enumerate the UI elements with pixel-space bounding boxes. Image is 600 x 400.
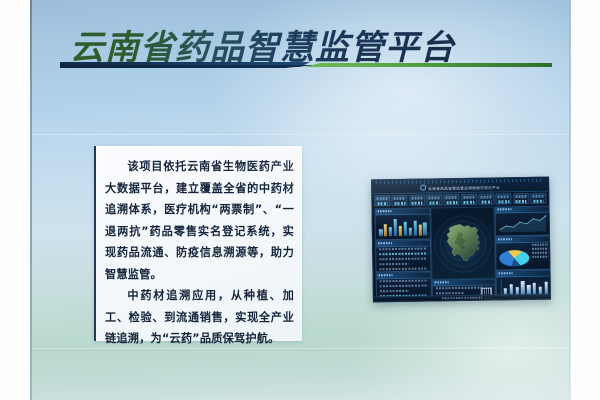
kpi-value: [446, 201, 457, 205]
kpi-card[interactable]: [461, 194, 477, 205]
panel-monthly-trend[interactable]: [494, 206, 549, 237]
panel-header: [496, 207, 550, 213]
exhibition-poster-board: 云南省药品智慧监管平台 该项目依托云南省生物医药产业大数据平台，建立覆盖全省的中…: [32, 0, 570, 400]
legend-item: [532, 252, 548, 254]
list-item: [380, 284, 428, 287]
screenshot-root: 云南省药品智慧监管平台 该项目依托云南省生物医药产业大数据平台，建立覆盖全省的中…: [0, 0, 600, 400]
list-item: [379, 257, 427, 260]
description-paragraph-1: 该项目依托云南省生物医药产业大数据平台，建立覆盖全省的中药材追溯体系，医疗机构“…: [105, 156, 294, 285]
line-chart: [499, 214, 547, 233]
title-divider: [60, 60, 530, 69]
kpi-card[interactable]: [513, 193, 529, 204]
kpi-card[interactable]: [478, 193, 494, 204]
list-item: [436, 287, 483, 290]
map-panel[interactable]: [430, 206, 495, 279]
pie-chart-disc: [499, 250, 529, 266]
kpi-card[interactable]: [496, 193, 512, 204]
kpi-label: [446, 196, 458, 199]
kpi-value: [498, 200, 509, 204]
kpi-card[interactable]: [392, 195, 408, 206]
dashboard-monitor: 云南省药品智慧监管追溯数据可视化平台: [371, 177, 551, 303]
panel-header: [376, 208, 430, 214]
kpi-card[interactable]: [426, 194, 442, 205]
kpi-label: [411, 197, 423, 200]
kpi-card-row: [374, 193, 546, 207]
kpi-value: [464, 200, 475, 204]
kpi-card[interactable]: [530, 193, 546, 204]
list-item: [379, 263, 408, 266]
kpi-value: [429, 201, 440, 205]
panel-header: [496, 237, 550, 243]
kpi-label: [498, 195, 510, 198]
kpi-card[interactable]: [409, 195, 425, 206]
kpi-card[interactable]: [374, 195, 390, 206]
panel-header: [377, 272, 431, 278]
list-item: [380, 290, 409, 293]
board-left-edge: [30, 0, 32, 400]
panel-header: [376, 240, 430, 246]
list-item: [380, 280, 428, 283]
description-paragraph-2: 中药材追溯应用，从种植、加工、检验、到流通销售，实现全产业链追溯，为“云药”品质…: [105, 285, 294, 350]
legend-item: [532, 256, 548, 258]
description-panel: 该项目依托云南省生物医药产业大数据平台，建立覆盖全省的中药材追溯体系，医疗机构“…: [94, 146, 302, 341]
kpi-label: [532, 195, 544, 198]
kpi-value: [412, 201, 423, 205]
dashboard-title-text: 云南省药品智慧监管追溯数据可视化平台: [428, 185, 500, 190]
panel-header: [433, 279, 495, 285]
legend-item: [532, 248, 548, 250]
panel-category-pie[interactable]: [495, 236, 550, 271]
kpi-label: [428, 197, 440, 200]
pie-chart: [498, 244, 532, 268]
panel-warning-list[interactable]: [375, 239, 431, 272]
list-item: [379, 252, 427, 255]
kpi-value: [516, 199, 527, 203]
dashboard-header: 云南省药品智慧监管追溯数据可视化平台: [372, 178, 548, 195]
divider-dark-segment-thin: [60, 65, 316, 68]
kpi-value: [394, 201, 405, 205]
board-right-edge: [569, 0, 571, 400]
kpi-label: [463, 196, 475, 199]
kpi-value: [533, 199, 544, 203]
description-text: 该项目依托云南省生物医药产业大数据平台，建立覆盖全省的中药材追溯体系，医疗机构“…: [105, 156, 294, 350]
divider-green-segment: [305, 63, 552, 67]
kpi-label: [376, 197, 388, 200]
board-seam-upper: [32, 134, 570, 135]
yunnan-province-map: [441, 223, 486, 264]
mini-bar-chart: [379, 217, 427, 237]
dashboard-header-title: 云南省药品智慧监管追溯数据可视化平台: [372, 182, 548, 192]
legend-item: [532, 244, 548, 246]
kpi-card[interactable]: [444, 194, 460, 205]
dashboard-screen: 云南省药品智慧监管追溯数据可视化平台: [372, 178, 550, 302]
kpi-value: [481, 200, 492, 204]
kpi-value: [377, 202, 388, 206]
kpi-label: [480, 196, 492, 199]
warning-row-list: [379, 248, 427, 270]
shield-logo-icon: [420, 184, 426, 190]
pie-chart-legend: [532, 244, 548, 267]
list-item: [379, 248, 427, 251]
kpi-label: [515, 195, 527, 198]
panel-header: [497, 271, 550, 277]
list-item: [379, 267, 427, 270]
kpi-label: [394, 197, 406, 200]
panel-flow-statistics[interactable]: [375, 207, 431, 240]
